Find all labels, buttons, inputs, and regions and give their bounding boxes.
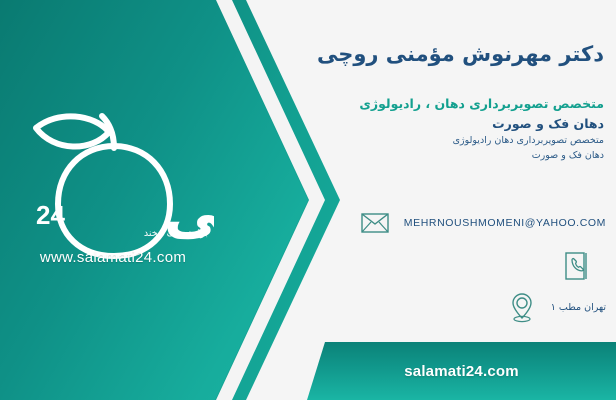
- contact-row-email[interactable]: MEHRNOUSHMOMENI@YAHOO.COM: [358, 206, 606, 240]
- svg-text:24: 24: [36, 200, 65, 230]
- card-content: دکتر مهرنوش مؤمنی روچی متخصص تصویربرداری…: [316, 0, 616, 400]
- footer-bar: salamati24.com: [307, 342, 616, 400]
- location-pin-icon: [505, 290, 539, 324]
- footer-website[interactable]: salamati24.com: [404, 363, 519, 380]
- specialty-line-3: متخصص تصویربرداری دهان رادیولوژی: [318, 135, 604, 146]
- business-card: سلامتی 24 براحتی یک لبخند www.salamati24…: [0, 0, 616, 400]
- logo-slogan: براحتی یک لبخند: [96, 228, 208, 239]
- envelope-icon: [358, 206, 392, 240]
- specialty-line-2: دهان فک و صورت: [318, 116, 604, 131]
- logo-website-url: www.salamati24.com: [18, 249, 208, 266]
- phone-book-icon: [560, 249, 594, 283]
- doctor-name: دکتر مهرنوش مؤمنی روچی: [318, 42, 604, 67]
- specialty-line-1: متخصص تصویربرداری دهان ، رادیولوژی: [314, 96, 604, 111]
- contact-row-phone[interactable]: [560, 249, 606, 283]
- contact-row-address[interactable]: تهران مطب ۱: [505, 290, 606, 324]
- address-value: تهران مطب ۱: [551, 302, 606, 313]
- specialty-line-4: دهان فک و صورت: [318, 150, 604, 161]
- email-value: MEHRNOUSHMOMENI@YAHOO.COM: [404, 217, 606, 229]
